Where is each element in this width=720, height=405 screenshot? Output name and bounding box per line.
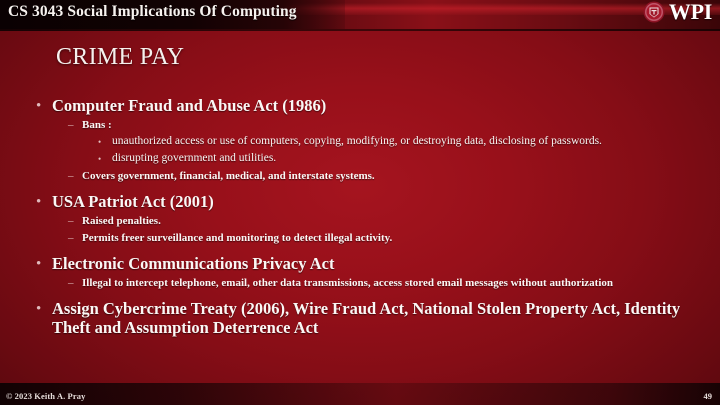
header-underline bbox=[0, 29, 720, 31]
bullet-level1: • Computer Fraud and Abuse Act (1986) bbox=[36, 96, 696, 116]
bullet-level3: • unauthorized access or use of computer… bbox=[98, 135, 696, 150]
bullet-level1: • USA Patriot Act (2001) bbox=[36, 192, 696, 212]
wpi-seal-icon bbox=[643, 1, 665, 23]
bullet-text: Assign Cybercrime Treaty (2006), Wire Fr… bbox=[52, 299, 696, 337]
bullet-text: unauthorized access or use of computers,… bbox=[112, 135, 696, 149]
bullet-text: Electronic Communications Privacy Act bbox=[52, 254, 696, 273]
bullet-marker-icon: • bbox=[98, 152, 112, 167]
wpi-wordmark: WPI bbox=[669, 1, 712, 23]
content-block: • Assign Cybercrime Treaty (2006), Wire … bbox=[36, 299, 696, 337]
page-title: CRIME PAY bbox=[56, 44, 184, 71]
course-title: CS 3043 Social Implications Of Computing bbox=[8, 3, 297, 21]
bullet-level2: – Raised penalties. bbox=[68, 214, 696, 229]
bullet-text: Computer Fraud and Abuse Act (1986) bbox=[52, 96, 696, 115]
bullet-text: Covers government, financial, medical, a… bbox=[82, 169, 696, 183]
content-block: • USA Patriot Act (2001) – Raised penalt… bbox=[36, 192, 696, 246]
wpi-branding: WPI bbox=[643, 1, 712, 23]
bullet-level1: • Assign Cybercrime Treaty (2006), Wire … bbox=[36, 299, 696, 337]
bullet-marker-icon: – bbox=[68, 276, 82, 291]
slide-footer bbox=[0, 383, 720, 405]
bullet-marker-icon: • bbox=[98, 135, 112, 150]
bullet-level2: – Bans : bbox=[68, 118, 696, 133]
bullet-level1: • Electronic Communications Privacy Act bbox=[36, 254, 696, 274]
bullet-marker-icon: – bbox=[68, 118, 82, 133]
bullet-marker-icon: – bbox=[68, 231, 82, 246]
bullet-level2: – Covers government, financial, medical,… bbox=[68, 169, 696, 184]
bullet-text: Raised penalties. bbox=[82, 214, 696, 228]
bullet-level3: • disrupting government and utilities. bbox=[98, 152, 696, 167]
content-block: • Computer Fraud and Abuse Act (1986) – … bbox=[36, 96, 696, 184]
page-number: 49 bbox=[704, 391, 713, 401]
bullet-text: USA Patriot Act (2001) bbox=[52, 192, 696, 211]
copyright-notice: © 2023 Keith A. Pray bbox=[6, 391, 85, 401]
bullet-text: Illegal to intercept telephone, email, o… bbox=[82, 276, 696, 290]
bullet-marker-icon: – bbox=[68, 214, 82, 229]
bullet-level2: – Illegal to intercept telephone, email,… bbox=[68, 276, 696, 291]
bullet-marker-icon: • bbox=[36, 254, 52, 274]
bullet-marker-icon: – bbox=[68, 169, 82, 184]
slide-content: • Computer Fraud and Abuse Act (1986) – … bbox=[36, 88, 696, 339]
bullet-marker-icon: • bbox=[36, 192, 52, 212]
bullet-text: disrupting government and utilities. bbox=[112, 152, 696, 166]
bullet-marker-icon: • bbox=[36, 96, 52, 116]
bullet-marker-icon: • bbox=[36, 299, 52, 319]
presentation-slide: CS 3043 Social Implications Of Computing… bbox=[0, 0, 720, 405]
bullet-level2: – Permits freer surveillance and monitor… bbox=[68, 231, 696, 246]
bullet-text: Bans : bbox=[82, 118, 696, 132]
bullet-text: Permits freer surveillance and monitorin… bbox=[82, 231, 696, 245]
content-block: • Electronic Communications Privacy Act … bbox=[36, 254, 696, 291]
